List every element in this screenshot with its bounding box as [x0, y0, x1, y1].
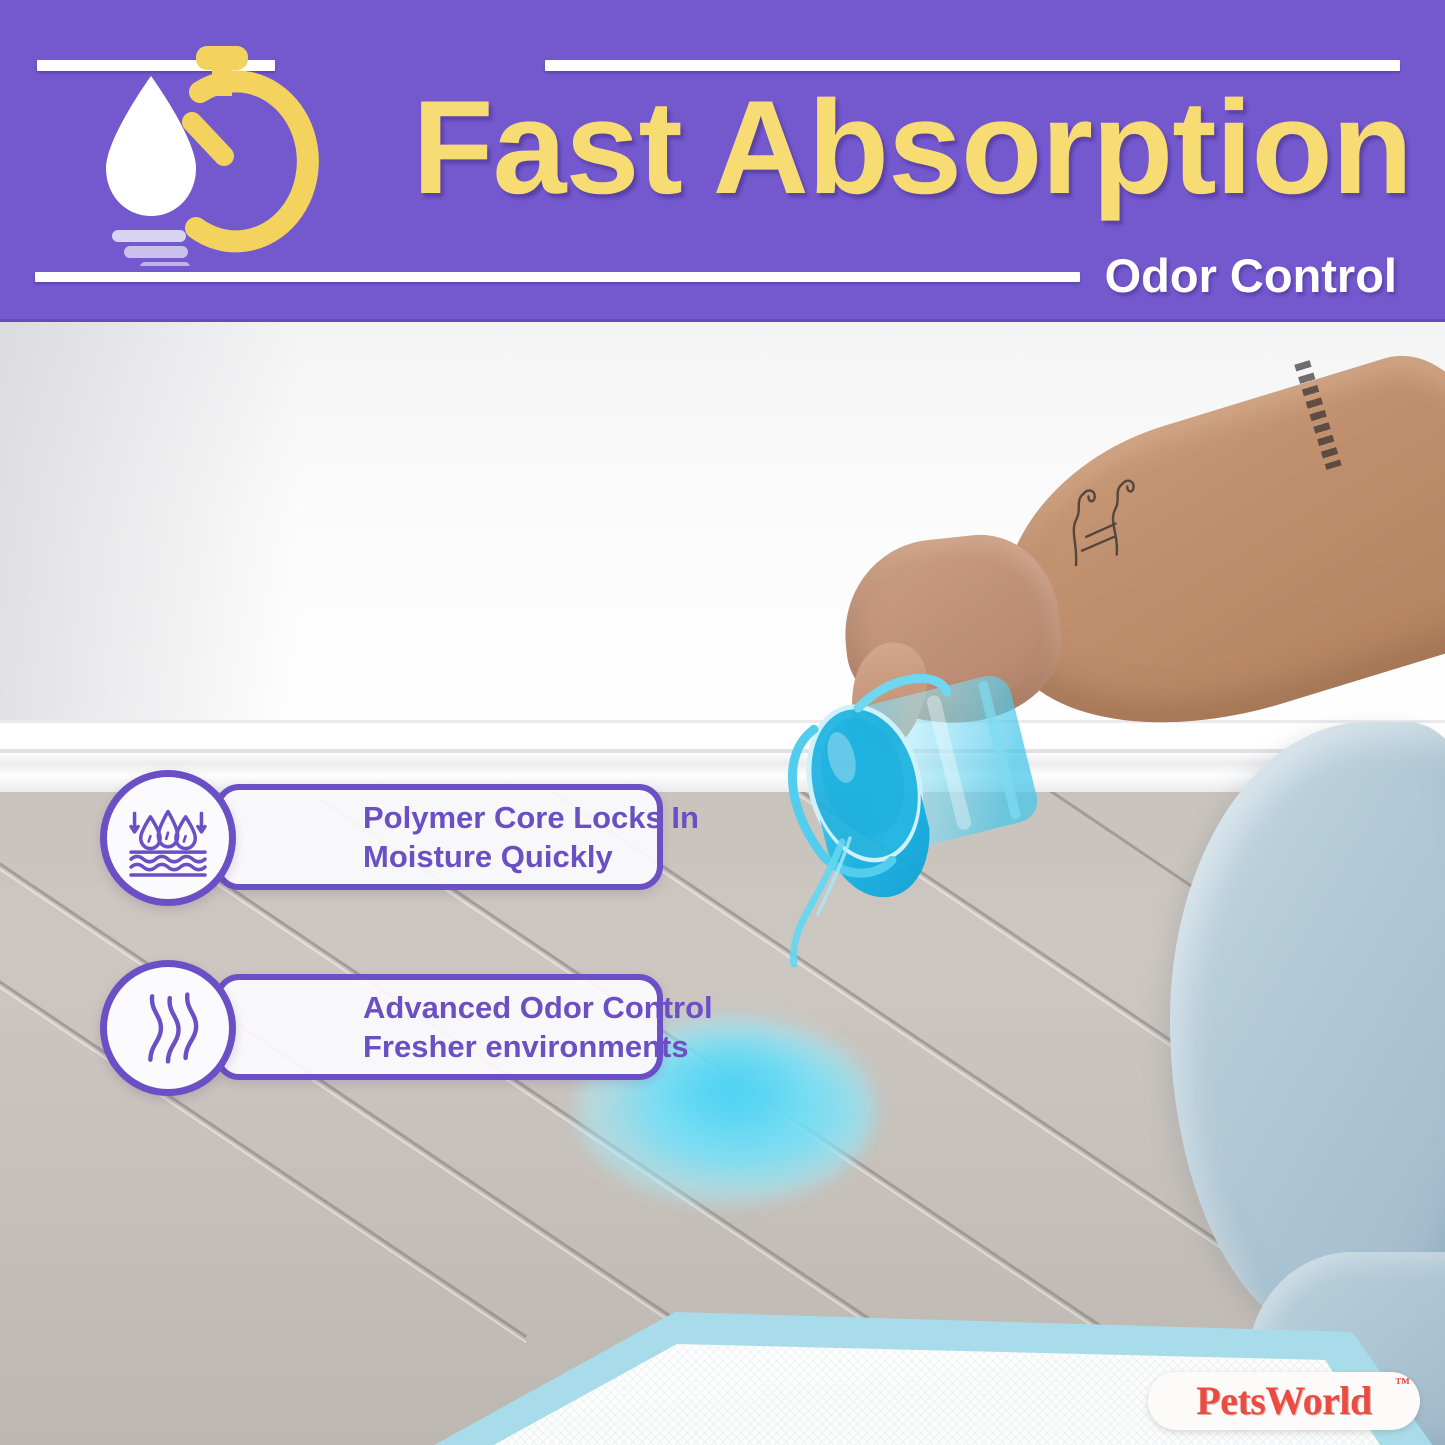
feature-badge-text: Advanced Odor Control Fresher environmen… — [363, 988, 713, 1066]
feature-badge-pill: Polymer Core Locks In Moisture Quickly — [215, 784, 663, 890]
water-drop-stopwatch-icon — [88, 34, 338, 266]
feature-badge-line1: Polymer Core Locks In — [363, 798, 699, 837]
trademark-symbol: ™ — [1395, 1376, 1410, 1393]
product-feature-image: Fast Absorption Odor Control — [0, 0, 1445, 1445]
feature-badge-odor-control[interactable]: Advanced Odor Control Fresher environmen… — [100, 960, 680, 1096]
feature-badge-line2: Moisture Quickly — [363, 837, 699, 876]
wall-shadow — [0, 322, 300, 742]
product-photo-scene: Polymer Core Locks In Moisture Quickly — [0, 322, 1445, 1445]
absorption-droplets-layers-icon — [100, 770, 236, 906]
odor-waves-icon — [100, 960, 236, 1096]
header-subtitle: Odor Control — [1105, 248, 1397, 304]
header-rule-top-right — [545, 60, 1400, 71]
feature-badge-text: Polymer Core Locks In Moisture Quickly — [363, 798, 699, 876]
feature-badge-polymer-core[interactable]: Polymer Core Locks In Moisture Quickly — [100, 770, 680, 906]
feature-badge-pill: Advanced Odor Control Fresher environmen… — [215, 974, 663, 1080]
page-title: Fast Absorption — [352, 78, 1412, 218]
measuring-pitcher — [770, 642, 1080, 892]
header-rule-bottom — [35, 272, 1080, 282]
brand-name: PetsWorld — [1196, 1379, 1371, 1423]
feature-badge-line2: Fresher environments — [363, 1027, 713, 1066]
header-banner: Fast Absorption Odor Control — [0, 0, 1445, 322]
brand-logo: PetsWorld ™ — [1148, 1372, 1420, 1430]
feature-badge-line1: Advanced Odor Control — [363, 988, 713, 1027]
